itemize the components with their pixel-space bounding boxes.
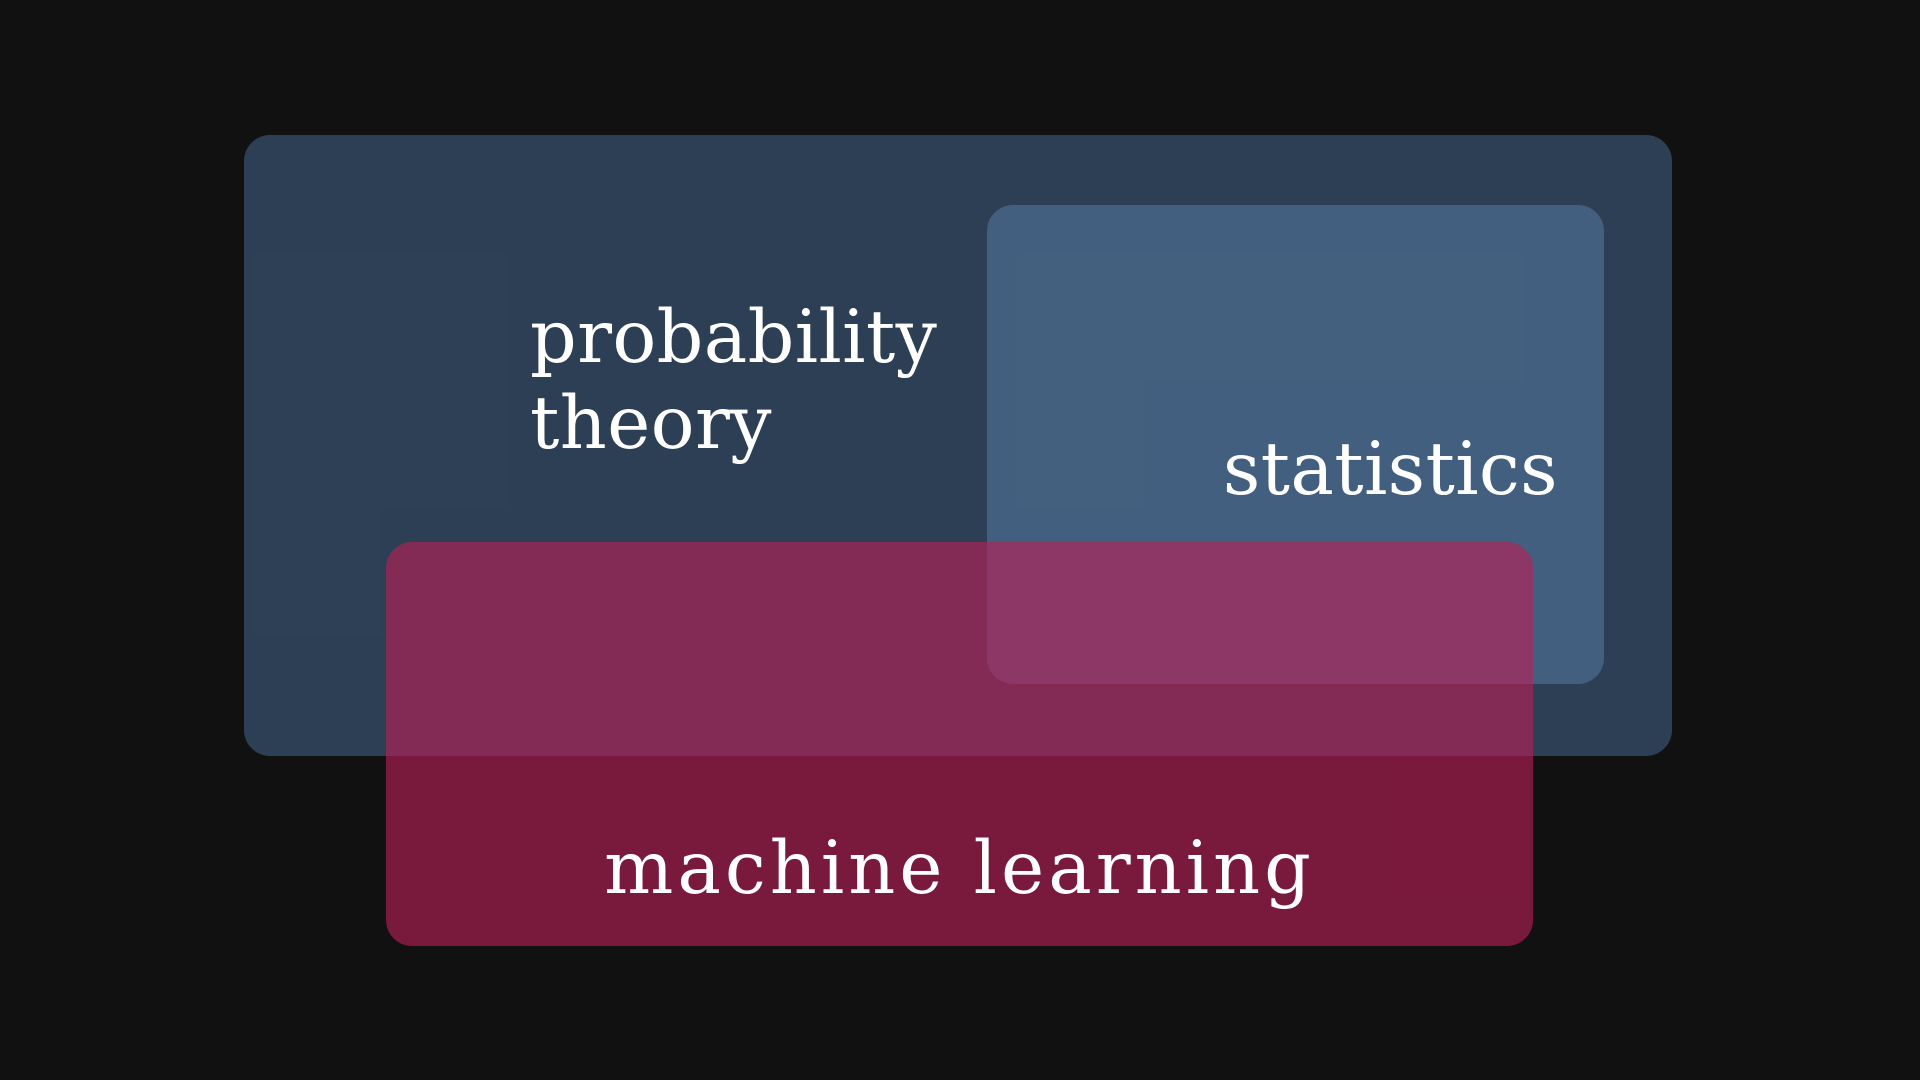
- venn-label-machine-learning: machine learning: [386, 826, 1533, 912]
- venn-label-statistics: statistics: [998, 427, 1558, 513]
- venn-region-machine-learning: machine learning: [386, 542, 1533, 946]
- diagram-canvas: probability theory statistics machine le…: [0, 0, 1920, 1080]
- venn-label-probability-theory: probability theory: [530, 295, 937, 467]
